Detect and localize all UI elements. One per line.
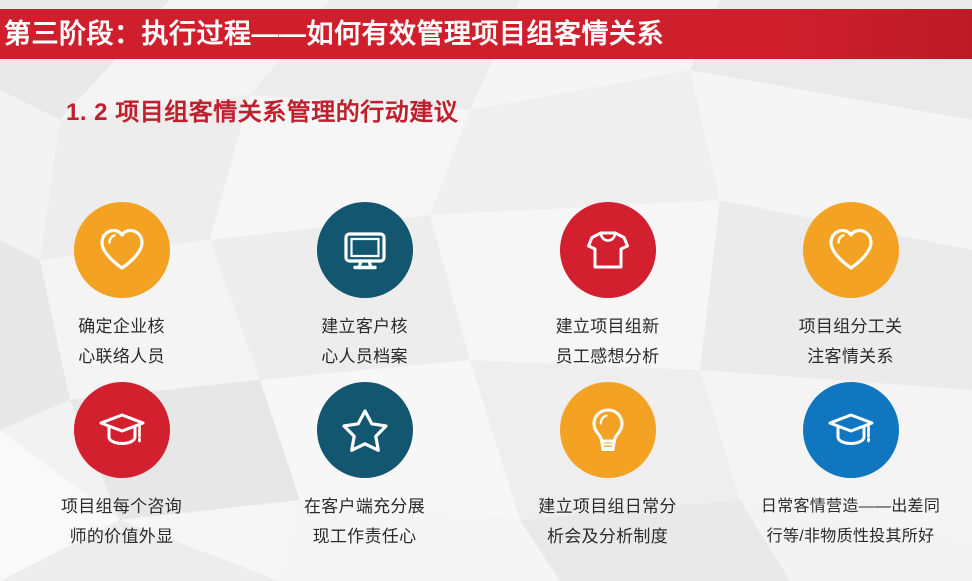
title-band: 第三阶段：执行过程——如何有效管理项目组客情关系 — [0, 9, 972, 59]
item-label: 在客户端充分展 现工作责任心 — [304, 492, 425, 552]
item-card[interactable]: 建立客户核 心人员档案 — [243, 202, 486, 372]
star-icon — [339, 404, 391, 456]
item-row-top: 确定企业核 心联络人员 建立客户核 心人员档案 — [0, 202, 972, 372]
item-label: 建立客户核 心人员档案 — [321, 312, 408, 372]
item-card[interactable]: 日常客情营造——出差同 行等/非物质性投其所好 — [729, 382, 972, 552]
graduation-cap-icon — [825, 404, 877, 456]
icon-badge — [803, 382, 899, 478]
item-card[interactable]: 项目组每个咨询 师的价值外显 — [0, 382, 243, 552]
icon-badge — [560, 382, 656, 478]
item-card[interactable]: 在客户端充分展 现工作责任心 — [243, 382, 486, 552]
monitor-icon — [339, 224, 391, 276]
slide-canvas: 第三阶段：执行过程——如何有效管理项目组客情关系 1. 2 项目组客情关系管理的… — [0, 0, 972, 581]
page-title: 第三阶段：执行过程——如何有效管理项目组客情关系 — [0, 9, 664, 59]
item-label: 建立项目组新 员工感想分析 — [556, 312, 660, 372]
item-label: 项目组每个咨询 师的价值外显 — [61, 492, 182, 552]
item-card[interactable]: 项目组分工关 注客情关系 — [729, 202, 972, 372]
item-card[interactable]: 确定企业核 心联络人员 — [0, 202, 243, 372]
item-label: 建立项目组日常分 析会及分析制度 — [538, 492, 676, 552]
icon-badge — [317, 202, 413, 298]
item-label: 项目组分工关 注客情关系 — [799, 312, 903, 372]
icon-badge — [317, 382, 413, 478]
icon-badge — [803, 202, 899, 298]
item-card[interactable]: 建立项目组日常分 析会及分析制度 — [486, 382, 729, 552]
tshirt-icon — [582, 224, 634, 276]
item-label: 日常客情营造——出差同 行等/非物质性投其所好 — [761, 492, 940, 552]
item-label: 确定企业核 心联络人员 — [78, 312, 165, 372]
lightbulb-icon — [582, 404, 634, 456]
item-row-bottom: 项目组每个咨询 师的价值外显 在客户端充分展 现工作责任心 — [0, 382, 972, 552]
icon-badge — [74, 202, 170, 298]
icon-badge — [74, 382, 170, 478]
icon-badge — [560, 202, 656, 298]
subtitle: 1. 2 项目组客情关系管理的行动建议 — [66, 92, 458, 127]
item-card[interactable]: 建立项目组新 员工感想分析 — [486, 202, 729, 372]
heart-icon — [96, 224, 148, 276]
heart-icon — [825, 224, 877, 276]
graduation-cap-icon — [96, 404, 148, 456]
